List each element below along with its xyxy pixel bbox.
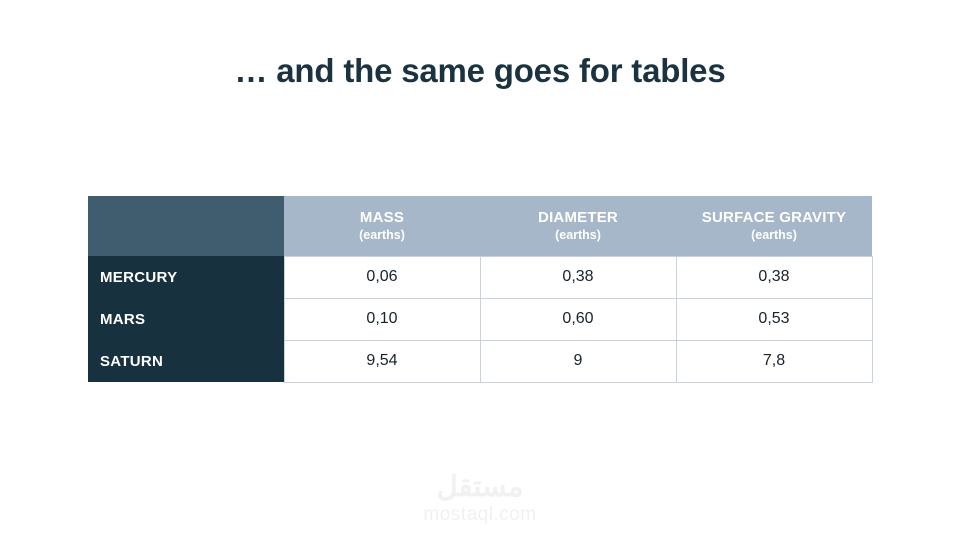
table-header-row: MASS (earths) DIAMETER (earths) SURFACE … [88, 196, 872, 256]
column-header-surface-gravity: SURFACE GRAVITY (earths) [676, 196, 872, 256]
column-header-mass-unit: (earths) [290, 227, 474, 243]
table-row: MERCURY 0,06 0,38 0,38 [88, 256, 872, 298]
table-row: MARS 0,10 0,60 0,53 [88, 298, 872, 340]
column-header-diameter-unit: (earths) [486, 227, 670, 243]
planet-comparison-table: MASS (earths) DIAMETER (earths) SURFACE … [88, 196, 873, 383]
row-label-mars: MARS [88, 298, 284, 340]
cell-saturn-mass: 9,54 [284, 340, 480, 382]
column-header-diameter: DIAMETER (earths) [480, 196, 676, 256]
cell-mars-surface-gravity: 0,53 [676, 298, 872, 340]
column-header-diameter-title: DIAMETER [486, 209, 670, 227]
slide-canvas: … and the same goes for tables MASS (ear… [0, 0, 960, 540]
cell-mercury-surface-gravity: 0,38 [676, 256, 872, 298]
cell-mercury-mass: 0,06 [284, 256, 480, 298]
cell-mars-mass: 0,10 [284, 298, 480, 340]
page-title: … and the same goes for tables [0, 50, 960, 92]
cell-mars-diameter: 0,60 [480, 298, 676, 340]
row-label-saturn: SATURN [88, 340, 284, 382]
column-header-surface-gravity-unit: (earths) [682, 227, 866, 243]
watermark-domain: mostaql.com [0, 504, 960, 526]
column-header-mass-title: MASS [290, 209, 474, 227]
row-label-mercury: MERCURY [88, 256, 284, 298]
table-row: SATURN 9,54 9 7,8 [88, 340, 872, 382]
cell-saturn-diameter: 9 [480, 340, 676, 382]
column-header-surface-gravity-title: SURFACE GRAVITY [682, 209, 866, 227]
table-corner-cell [88, 196, 284, 256]
cell-saturn-surface-gravity: 7,8 [676, 340, 872, 382]
watermark-arabic-logo: مستقل [0, 470, 960, 504]
table-header: MASS (earths) DIAMETER (earths) SURFACE … [88, 196, 872, 256]
table-container: MASS (earths) DIAMETER (earths) SURFACE … [88, 196, 872, 383]
watermark: مستقل mostaql.com [0, 470, 960, 526]
cell-mercury-diameter: 0,38 [480, 256, 676, 298]
table-body: MERCURY 0,06 0,38 0,38 MARS 0,10 0,60 0,… [88, 256, 872, 382]
column-header-mass: MASS (earths) [284, 196, 480, 256]
